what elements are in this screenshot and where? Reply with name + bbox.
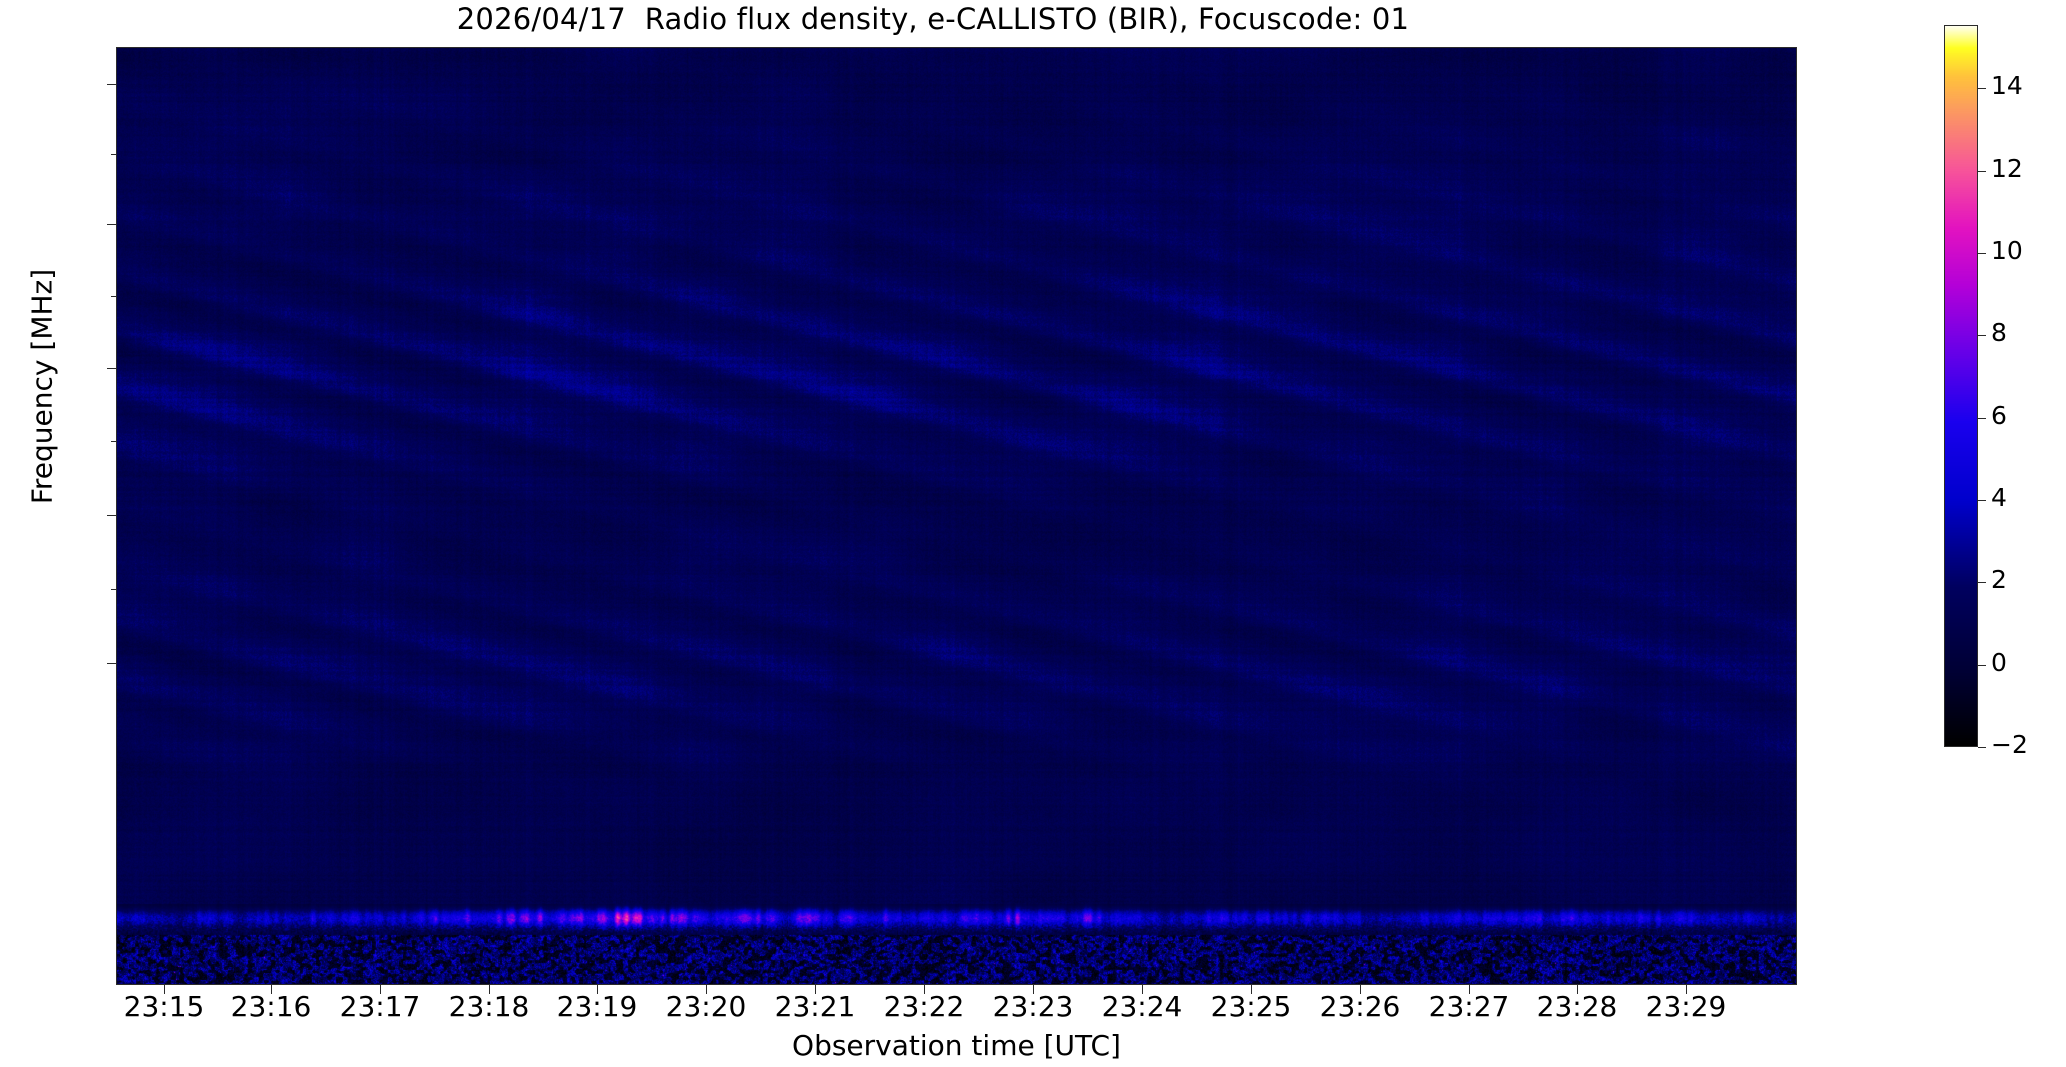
colorbar-tick-label: 14 [1991, 73, 2023, 98]
colorbar-tick-label: 4 [1991, 485, 2007, 510]
y-tick-mark [107, 663, 116, 664]
figure-title: 2026/04/17 Radio flux density, e-CALLIST… [0, 2, 1866, 36]
x-axis-label: Observation time [UTC] [116, 1029, 1797, 1062]
spectrogram-plot-area [116, 47, 1797, 985]
spectrogram-image [117, 48, 1796, 984]
colorbar-tick-mark [1978, 335, 1986, 336]
y-axis-label: Frequency [MHz] [26, 237, 59, 537]
colorbar-gradient [1945, 26, 1977, 746]
colorbar-tick-mark [1978, 253, 1986, 254]
colorbar-tick-mark [1978, 88, 1986, 89]
y-tick-mark-minor [111, 296, 116, 297]
colorbar-tick-mark [1978, 500, 1986, 501]
colorbar-tick-label: 6 [1991, 403, 2007, 428]
colorbar-tick-label: 0 [1991, 650, 2007, 675]
x-tick-label: 23:29 [1606, 993, 1766, 1021]
y-tick-mark [107, 224, 116, 225]
y-tick-mark-minor [111, 441, 116, 442]
y-tick-mark [107, 368, 116, 369]
y-tick-mark-minor [111, 154, 116, 155]
colorbar-tick-mark [1978, 747, 1986, 748]
colorbar-tick-mark [1978, 665, 1986, 666]
y-tick-mark [107, 84, 116, 85]
colorbar-tick-label: 10 [1991, 238, 2023, 263]
colorbar-tick-label: 2 [1991, 567, 2007, 592]
colorbar-tick-label: −2 [1991, 732, 2028, 757]
colorbar-tick-mark [1978, 582, 1986, 583]
y-tick-mark [107, 515, 116, 516]
colorbar [1944, 25, 1978, 747]
y-tick-mark-minor [111, 589, 116, 590]
colorbar-tick-label: 8 [1991, 320, 2007, 345]
colorbar-tick-label: 12 [1991, 156, 2023, 181]
colorbar-tick-mark [1978, 418, 1986, 419]
colorbar-tick-mark [1978, 171, 1986, 172]
figure-canvas: 2026/04/17 Radio flux density, e-CALLIST… [0, 0, 2066, 1067]
